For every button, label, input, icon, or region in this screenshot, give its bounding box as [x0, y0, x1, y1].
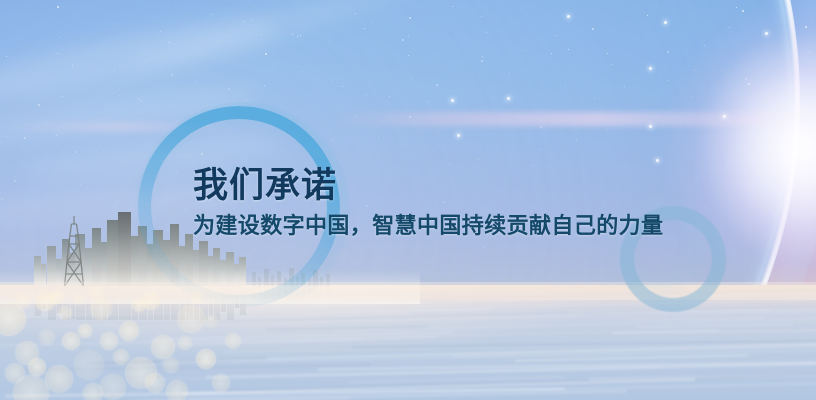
bokeh-light	[100, 374, 126, 400]
bokeh-light	[78, 324, 92, 338]
promise-banner: 我们承诺 为建设数字中国，智慧中国持续贡献自己的力量	[0, 0, 816, 400]
bokeh-light	[204, 314, 218, 328]
bokeh-light	[225, 333, 241, 349]
bokeh-light	[39, 329, 55, 345]
banner-text-block: 我们承诺 为建设数字中国，智慧中国持续贡献自己的力量	[193, 164, 713, 241]
bokeh-light	[178, 336, 192, 350]
bokeh-light	[90, 298, 112, 320]
bokeh-light	[212, 374, 230, 392]
bokeh-light	[62, 332, 80, 350]
bokeh-light	[45, 365, 73, 393]
bokeh-light	[166, 380, 188, 400]
page-subtitle: 为建设数字中国，智慧中国持续贡献自己的力量	[193, 211, 713, 241]
bokeh-light	[74, 350, 104, 380]
bokeh-light	[113, 349, 129, 365]
bokeh-light	[119, 321, 139, 341]
bokeh-light	[73, 293, 85, 305]
bokeh-light	[50, 290, 64, 304]
bokeh-light	[100, 332, 118, 350]
bokeh-light	[58, 306, 72, 320]
page-title: 我们承诺	[193, 164, 713, 208]
bokeh-light	[132, 298, 146, 312]
bokeh-light	[89, 285, 105, 301]
bokeh-light	[196, 349, 216, 369]
bokeh-light	[83, 383, 103, 400]
bokeh-light	[163, 357, 179, 373]
bokeh-light	[151, 335, 175, 359]
bokeh-light	[15, 293, 31, 309]
bokeh-light	[28, 358, 46, 376]
bokeh-light	[145, 373, 165, 393]
bokeh-light	[5, 363, 25, 383]
